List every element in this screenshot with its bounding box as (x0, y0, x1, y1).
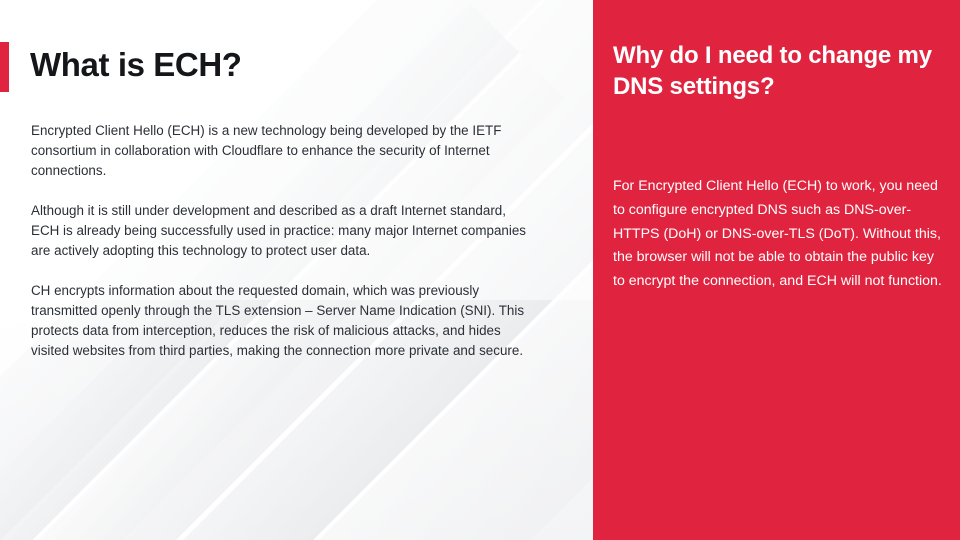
body-paragraph-1: Encrypted Client Hello (ECH) is a new te… (31, 121, 531, 181)
body-paragraph-2: Although it is still under development a… (31, 201, 531, 261)
panel-paragraph: For Encrypted Client Hello (ECH) to work… (613, 175, 943, 294)
right-red-panel: Why do I need to change my DNS settings?… (593, 0, 960, 540)
left-body-text: Encrypted Client Hello (ECH) is a new te… (31, 121, 531, 361)
page-title: What is ECH? (30, 43, 242, 87)
panel-title: Why do I need to change my DNS settings? (613, 40, 943, 102)
slide-root: What is ECH? Encrypted Client Hello (ECH… (0, 0, 960, 540)
body-paragraph-3: CH encrypts information about the reques… (31, 281, 531, 361)
title-accent-bar (0, 42, 9, 92)
left-content-column: What is ECH? Encrypted Client Hello (ECH… (0, 0, 593, 540)
panel-body-text: For Encrypted Client Hello (ECH) to work… (613, 175, 943, 294)
